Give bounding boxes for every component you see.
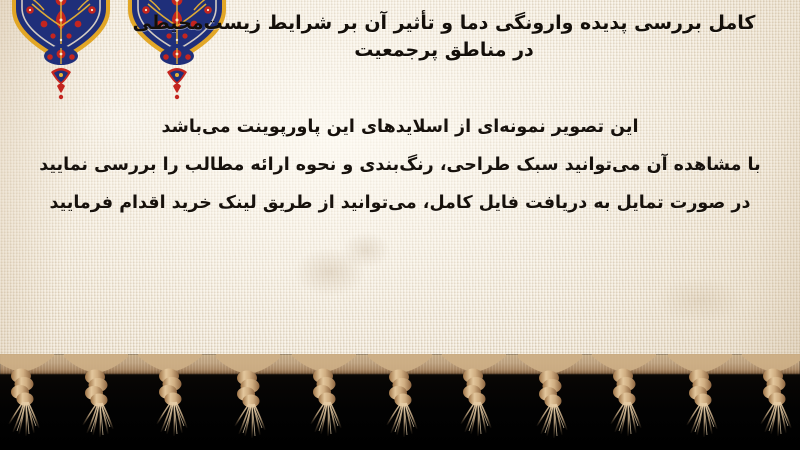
slide-title: کامل بررسی پدیده وارونگی دما و تأثیر آن … [124, 10, 764, 64]
slide-text-layer: کامل بررسی پدیده وارونگی دما و تأثیر آن … [0, 0, 800, 372]
body-line-1: این تصویر نمونه‌ای از اسلایدهای این پاور… [24, 108, 776, 146]
fringe-tassels [0, 354, 800, 450]
presentation-slide: کامل بررسی پدیده وارونگی دما و تأثیر آن … [0, 0, 800, 450]
body-line-2: با مشاهده آن می‌توانید سبک طراحی، رنگ‌بن… [24, 146, 776, 184]
carpet-tassel-fringe [0, 354, 800, 450]
body-line-3: در صورت تمایل به دریافت فایل کامل، می‌تو… [24, 184, 776, 222]
slide-body: این تصویر نمونه‌ای از اسلایدهای این پاور… [24, 108, 776, 222]
